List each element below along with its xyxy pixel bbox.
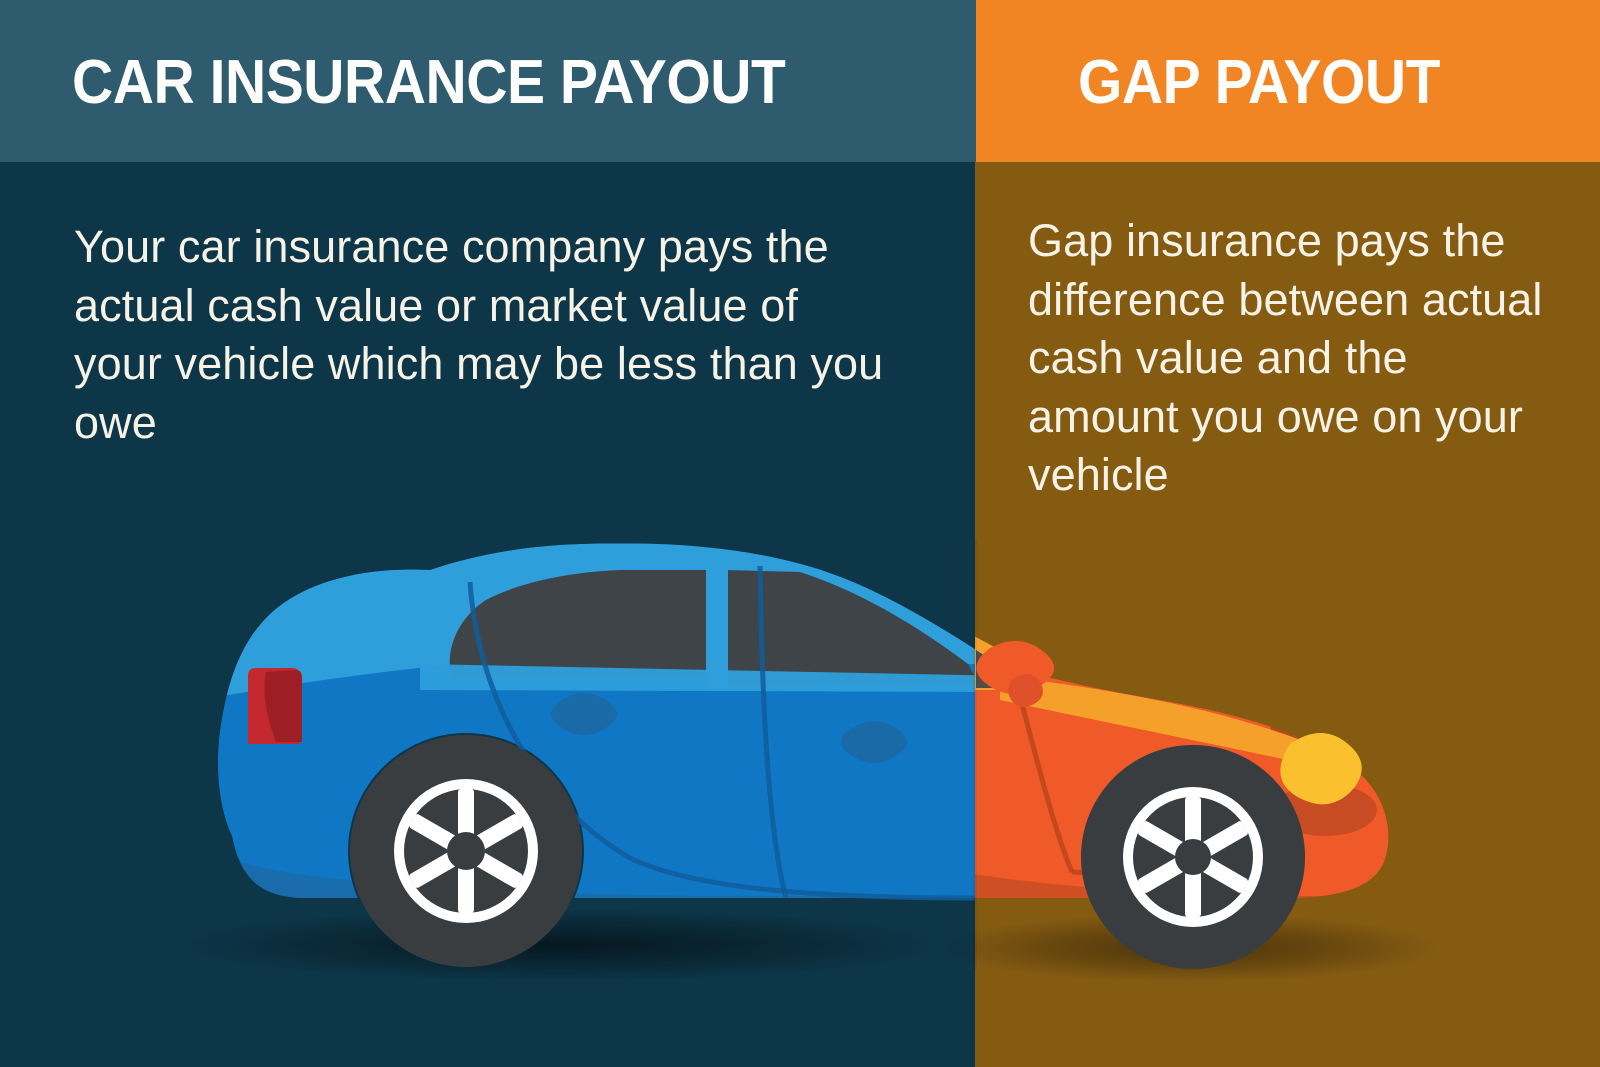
right-panel-description: Gap insurance pays the difference betwee…: [1028, 212, 1558, 505]
left-panel-title: CAR INSURANCE PAYOUT: [72, 52, 785, 114]
header-divider: [957, 0, 976, 162]
left-panel-description: Your car insurance company pays the actu…: [74, 218, 894, 452]
right-panel-title: GAP PAYOUT: [1078, 52, 1440, 114]
infographic-root: CAR INSURANCE PAYOUT GAP PAYOUT Your car…: [0, 0, 1600, 1067]
